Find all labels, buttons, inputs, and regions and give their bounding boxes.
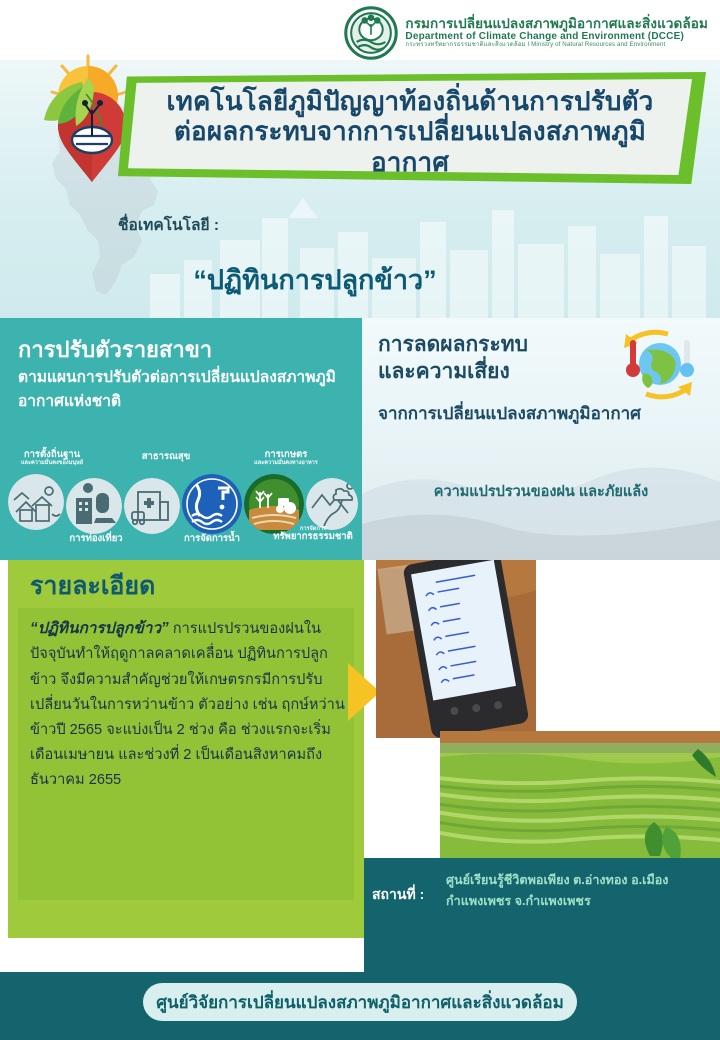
footer-bar: ศูนย์วิจัยการเปลี่ยนแปลงสภาพภูมิอากาศและ…: [0, 972, 720, 1040]
sector-caption-water: การจัดการน้ำ: [164, 534, 260, 544]
poster-title-line1: เทคโนโลยีภูมิปัญญาท้องถิ่นด้านการปรับตัว: [148, 86, 672, 117]
sector-caption-natural-resources: การจัดการ ทรัพยากรธรรมชาติ: [266, 526, 360, 543]
mitigation-panel: การลดผลกระทบ และความเสี่ยง จากการเปลี่ยน…: [362, 318, 720, 560]
public-health-hospital-icon[interactable]: [124, 478, 180, 534]
rice-field-seedlings-photo: [440, 731, 720, 862]
location-block: สถานที่ : ศูนย์เรียนรู้ชีวิตพอเพียง ต.อ่…: [364, 858, 720, 972]
technology-label: ชื่อเทคโนโลยี :: [118, 212, 219, 237]
poster-root: กรมการเปลี่ยนแปลงสภาพภูมิอากาศและสิ่งแวด…: [0, 0, 720, 1040]
top-band: กรมการเปลี่ยนแปลงสภาพภูมิอากาศและสิ่งแวด…: [0, 0, 720, 318]
natural-resources-mountain-icon[interactable]: [306, 478, 358, 530]
phone-rice-planting-calendar-photo: [376, 560, 536, 738]
tourism-city-car-icon[interactable]: [66, 478, 122, 534]
adaptation-subheading: ตามแผนการปรับตัวต่อการเปลี่ยนแปลงสภาพภูม…: [18, 366, 348, 414]
location-text: ศูนย์เรียนรู้ชีวิตพอเพียง ต.อ่างทอง อ.เม…: [446, 870, 708, 913]
risk-text: ความแปรปรวนของฝน และภัยแล้ง: [362, 480, 720, 503]
mitigation-heading: การลดผลกระทบ และความเสี่ยง: [378, 332, 528, 386]
poster-title-line2: ต่อผลกระทบจากการเปลี่ยนแปลงสภาพภูมิอากาศ: [148, 116, 672, 177]
details-title: รายละเอียด: [30, 566, 155, 606]
adaptation-heading: การปรับตัวรายสาขา: [18, 332, 212, 367]
mitigation-heading-line2: และความเสี่ยง: [378, 359, 528, 386]
sector-caption-agriculture: การเกษตร และความมั่นคงทางอาหาร: [232, 450, 340, 467]
details-body: “ปฏิทินการปลูกข้าว” การแปรปรวนของฝนในปัจ…: [30, 616, 348, 793]
location-line1: ศูนย์เรียนรู้ชีวิตพอเพียง ต.อ่างทอง อ.เม…: [446, 870, 708, 891]
details-block: รายละเอียด “ปฏิทินการปลูกข้าว” การแปรปรว…: [8, 560, 364, 938]
sector-caption-settlement: การตั้งถิ่นฐาน และความมั่นคงของมนุษย์: [4, 450, 100, 467]
sector-caption-tourism: การท่องเที่ยว: [48, 534, 144, 544]
dcce-emblem-icon: [344, 6, 398, 60]
mitigation-subheading: จากการเปลี่ยนแปลงสภาพภูมิอากาศ: [378, 400, 641, 427]
sector-icon-strip: การตั้งถิ่นฐาน และความมั่นคงของมนุษย์ สา…: [0, 448, 362, 560]
globe-thermometer-climate-icon: [610, 326, 706, 406]
sector-caption-health: สาธารณสุข: [118, 452, 214, 462]
details-body-text: การแปรปรวนของฝนในปัจจุบันทำให้ฤดูกาลคลาด…: [30, 621, 345, 788]
location-line2: กำแพงเพชร จ.กำแพงเพชร: [446, 891, 708, 912]
location-label: สถานที่ :: [372, 884, 424, 906]
dcce-org-th: กรมการเปลี่ยนแปลงสภาพภูมิอากาศและสิ่งแวด…: [405, 17, 708, 31]
settlement-houses-icon[interactable]: [8, 474, 64, 530]
dcce-logo: กรมการเปลี่ยนแปลงสภาพภูมิอากาศและสิ่งแวด…: [344, 6, 708, 60]
water-management-tap-river-icon[interactable]: [182, 474, 242, 534]
details-quote: “ปฏิทินการปลูกข้าว”: [30, 620, 169, 637]
agriculture-crops-tractor-icon[interactable]: [244, 474, 304, 534]
dcce-ministry: กระทรวงทรัพยากรธรรมชาติและสิ่งแวดล้อม I …: [405, 42, 708, 49]
mitigation-heading-line1: การลดผลกระทบ: [378, 332, 528, 359]
footer-pill: ศูนย์วิจัยการเปลี่ยนแปลงสภาพภูมิอากาศและ…: [143, 983, 577, 1021]
technology-name: “ปฏิทินการปลูกข้าว”: [0, 258, 720, 301]
footer-text: ศูนย์วิจัยการเปลี่ยนแปลงสภาพภูมิอากาศและ…: [156, 989, 564, 1016]
main-title-ribbon: เทคโนโลยีภูมิปัญญาท้องถิ่นด้านการปรับตัว…: [118, 72, 706, 184]
